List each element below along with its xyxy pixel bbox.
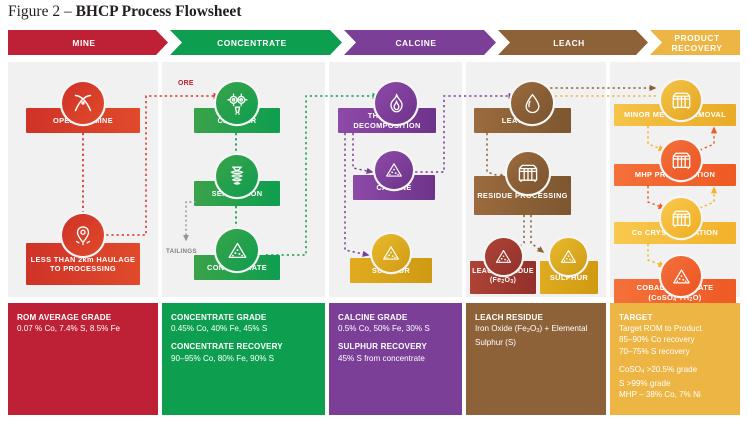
footer-heading-target: TARGET (619, 312, 732, 323)
footer-body-sulphur-recovery: 45% S from concentrate (338, 353, 454, 364)
stage-label-product-recovery: PRODUCT RECOVERY (652, 33, 742, 53)
stage-chevron-leach: LEACH (498, 30, 648, 55)
map-pin-icon (62, 214, 104, 256)
ore-pile-icon-sulphur-calcine (372, 234, 410, 272)
tank-icon-residue (507, 152, 549, 194)
footer-heading-sulphur-recovery: SULPHUR RECOVERY (338, 341, 454, 352)
ore-pile-icon-leach-residue (485, 238, 522, 275)
footer-heading-leach-residue: LEACH RESIDUE (475, 312, 598, 323)
footer-calcine: CALCINE GRADE 0.5% Co, 50% Fe, 30% S SUL… (329, 303, 462, 415)
gears-icon (216, 82, 258, 124)
footer-mine: ROM AVERAGE GRADE 0.07 % Co, 7.4% S, 8.5… (8, 303, 158, 415)
node-label-haulage: LESS THAN 2km HAULAGE TO PROCESSING (26, 255, 140, 274)
pickaxe-icon (62, 82, 104, 124)
footer-body-target: Target ROM to Product85–90% Co recovery7… (619, 323, 732, 357)
stream-label-tailings: TAILINGS (166, 248, 197, 255)
flame-icon (375, 82, 417, 124)
stage-label-calcine: CALCINE (395, 38, 436, 48)
stage-chevron-product-recovery: PRODUCT RECOVERY (650, 30, 740, 55)
stage-chevron-concentrate: CONCENTRATE (170, 30, 342, 55)
footer-body-calcine-grade: 0.5% Co, 50% Fe, 30% S (338, 323, 454, 334)
footer-heading-calcine-grade: CALCINE GRADE (338, 312, 454, 323)
footer-concentrate: CONCENTRATE GRADE 0.45% Co, 40% Fe, 45% … (162, 303, 325, 415)
tank-icon-minor-metals (661, 80, 701, 120)
stage-label-leach: LEACH (553, 38, 585, 48)
footer-heading-concentrate-grade: CONCENTRATE GRADE (171, 312, 317, 323)
footer-product-recovery: TARGET Target ROM to Product85–90% Co re… (610, 303, 740, 415)
ore-pile-icon-concentrate (216, 229, 258, 271)
tank-icon-mhp (661, 140, 701, 180)
footer-body-concentrate-recovery: 90–95% Co, 80% Fe, 90% S (171, 353, 317, 364)
figure-title-text: BHCP Process Flowsheet (76, 3, 242, 20)
tank-icon-co-crystallisation (661, 198, 701, 238)
stage-chevron-mine: MINE (8, 30, 168, 55)
spiral-separator-icon (216, 155, 258, 197)
footer-body-target-grades: CoSO4 >20.5% gradeS >99% gradeMHP – 38% … (619, 364, 732, 401)
figure-title: Figure 2 – BHCP Process Flowsheet (8, 3, 241, 21)
stream-label-ore: ORE (178, 80, 194, 87)
ore-pile-icon-sulphur-leach (550, 238, 587, 275)
figure-container: Figure 2 – BHCP Process Flowsheet MINE C… (0, 0, 748, 425)
footer-body-rom-grade: 0.07 % Co, 7.4% S, 8.5% Fe (17, 323, 150, 334)
footer-body-leach-residue: Iron Oxide (Fe2O3) + Elemental Sulphur (… (475, 323, 598, 348)
figure-number: Figure 2 – (8, 3, 76, 20)
ore-pile-icon-calcine (375, 151, 413, 189)
footer-heading-concentrate-recovery: CONCENTRATE RECOVERY (171, 341, 317, 352)
stage-header-bar: MINE CONCENTRATE CALCINE LEACH PRODUCT R… (8, 30, 740, 55)
ore-pile-icon-cobalt-sulphate (661, 256, 701, 296)
footer-body-concentrate-grade: 0.45% Co, 40% Fe, 45% S (171, 323, 317, 334)
footer-leach: LEACH RESIDUE Iron Oxide (Fe2O3) + Eleme… (466, 303, 606, 415)
stage-chevron-calcine: CALCINE (344, 30, 496, 55)
stage-label-concentrate: CONCENTRATE (217, 38, 287, 48)
stage-label-mine: MINE (72, 38, 95, 48)
footer-heading-rom-grade: ROM AVERAGE GRADE (17, 312, 150, 323)
droplet-icon (511, 82, 553, 124)
